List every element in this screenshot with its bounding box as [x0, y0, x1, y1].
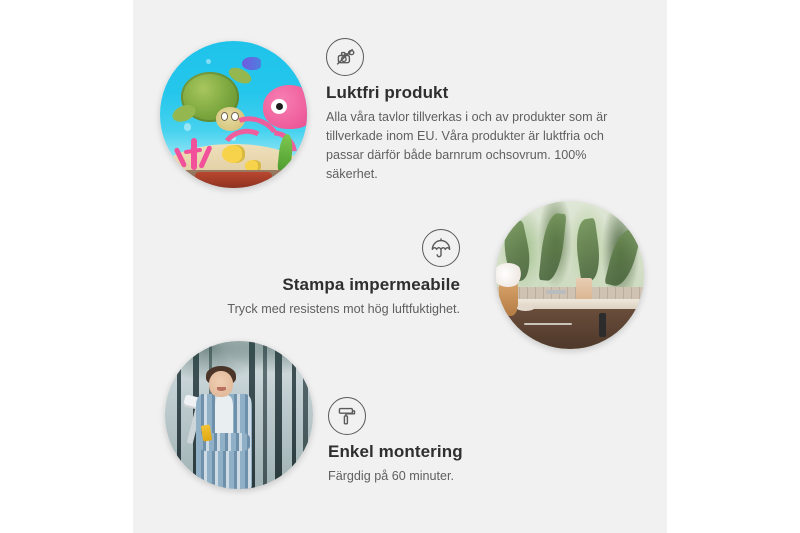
umbrella-icon	[422, 229, 460, 267]
shipwreck	[195, 172, 271, 188]
feature-mounting: Enkel montering Färgdig på 60 minuter.	[328, 397, 608, 486]
paint-roller-icon	[328, 397, 366, 435]
feature-waterproof: Stampa impermeabile Tryck med resistens …	[200, 229, 460, 319]
faucet	[546, 290, 565, 294]
octopus-eye	[271, 99, 287, 114]
bathroom-tropical-wallpaper-photo	[496, 201, 644, 349]
woman-smile	[217, 387, 226, 391]
soap-dish	[517, 305, 535, 311]
purple-fish	[242, 57, 261, 70]
feature-body: Färgdig på 60 minuter.	[328, 467, 608, 486]
feature-body: Alla våra tavlor tillverkas i och av pro…	[326, 108, 626, 185]
yellow-fish	[222, 145, 246, 163]
promo-banner: Luktfri produkt Alla våra tavlor tillver…	[0, 0, 800, 533]
vanity-cabinet	[505, 309, 644, 349]
underwater-kids-mural-photo	[160, 41, 307, 188]
white-flowers	[496, 263, 523, 287]
feature-body: Tryck med resistens mot hög luftfuktighe…	[200, 300, 460, 319]
coral	[173, 132, 214, 170]
no-fragrance-icon	[326, 38, 364, 76]
woman-face	[209, 371, 233, 398]
feature-odourless: Luktfri produkt Alla våra tavlor tillver…	[326, 38, 626, 184]
woman-paint-roller-forest-photo	[165, 341, 313, 489]
feature-title: Stampa impermeabile	[200, 275, 460, 295]
bubble-icon	[206, 59, 211, 64]
woman-undershirt	[215, 396, 233, 434]
bubble-icon	[184, 123, 191, 130]
feature-title: Enkel montering	[328, 442, 608, 462]
feature-title: Luktfri produkt	[326, 83, 626, 103]
